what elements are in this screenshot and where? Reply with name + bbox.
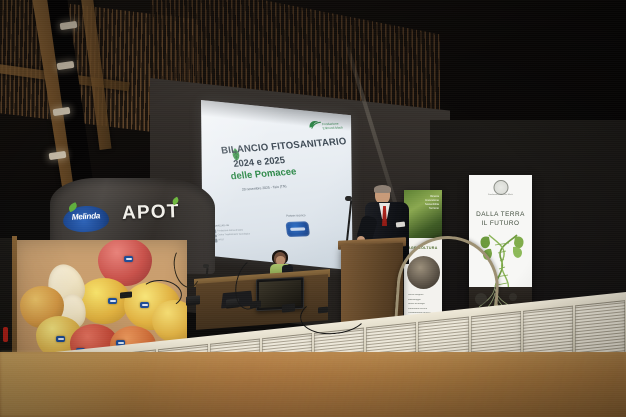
slide-footer-item: APOT <box>213 238 257 243</box>
mural-sticker <box>56 336 65 342</box>
fire-extinguisher <box>3 327 8 342</box>
banner-right-title: DALLA TERRA IL FUTURO <box>469 211 532 228</box>
banner-left-photo-caption: Ricerca Innovazione Sostenibilita Territ… <box>421 195 439 211</box>
mural-sticker <box>124 256 133 262</box>
slide-title-block: BILANCIO FITOSANITARIO 2024 e 2025 delle… <box>220 138 344 193</box>
conference-hall-photo: Fondazione Edmund Mach BILANCIO FITOSANI… <box>0 0 626 417</box>
table-microphone-head <box>203 264 209 268</box>
speaker-pocket-square <box>396 222 405 228</box>
mural-sticker <box>108 298 117 304</box>
speaker-hair <box>374 185 391 193</box>
stage-equipment-box-4 <box>120 291 132 298</box>
slide-partner-logo <box>285 221 310 237</box>
hall-floor <box>0 352 626 417</box>
slide-partner-label: Partner tecnico <box>286 213 306 218</box>
svg-text:Edmund Mach: Edmund Mach <box>322 126 343 131</box>
stage-equipment-box-2 <box>282 303 295 312</box>
slide-footer-label: Organizzato da <box>211 223 255 227</box>
floor-reflection <box>0 352 626 417</box>
slide-date-line: 20 novembre 2025 - Taio (TN) <box>242 180 345 192</box>
banner-right-logo-icon <box>493 180 508 195</box>
slide-footer-item-label: Centro Trasferimento Tecnologico <box>218 234 251 237</box>
melinda-logo: Melinda <box>62 205 109 233</box>
projection-screen: Fondazione Edmund Mach BILANCIO FITOSANI… <box>201 100 353 270</box>
slide-footer-item-label: APOT <box>218 239 224 241</box>
stage-monitor-speaker-1 <box>186 295 200 305</box>
mural-apple-yellow-1 <box>78 278 130 324</box>
slide-footer-organizers: Organizzato da Fondazione Edmund Mach Ce… <box>211 223 257 244</box>
lectern-microphone-head <box>345 196 352 201</box>
slide-organization-logo: Fondazione Edmund Mach <box>306 118 343 132</box>
banner-right-title-line1: DALLA TERRA <box>469 211 532 220</box>
projection-screen-surface: Fondazione Edmund Mach BILANCIO FITOSANI… <box>201 100 353 270</box>
slide-footer-item-label: Fondazione Edmund Mach <box>217 229 243 232</box>
apot-logo-text: APOT <box>122 201 180 225</box>
banner-left-caption-line: Territorio <box>421 207 439 211</box>
banner-right-logo-subtitle: Fondazione Edmund Mach <box>486 194 516 197</box>
banner-right-title-line2: IL FUTURO <box>469 220 532 229</box>
